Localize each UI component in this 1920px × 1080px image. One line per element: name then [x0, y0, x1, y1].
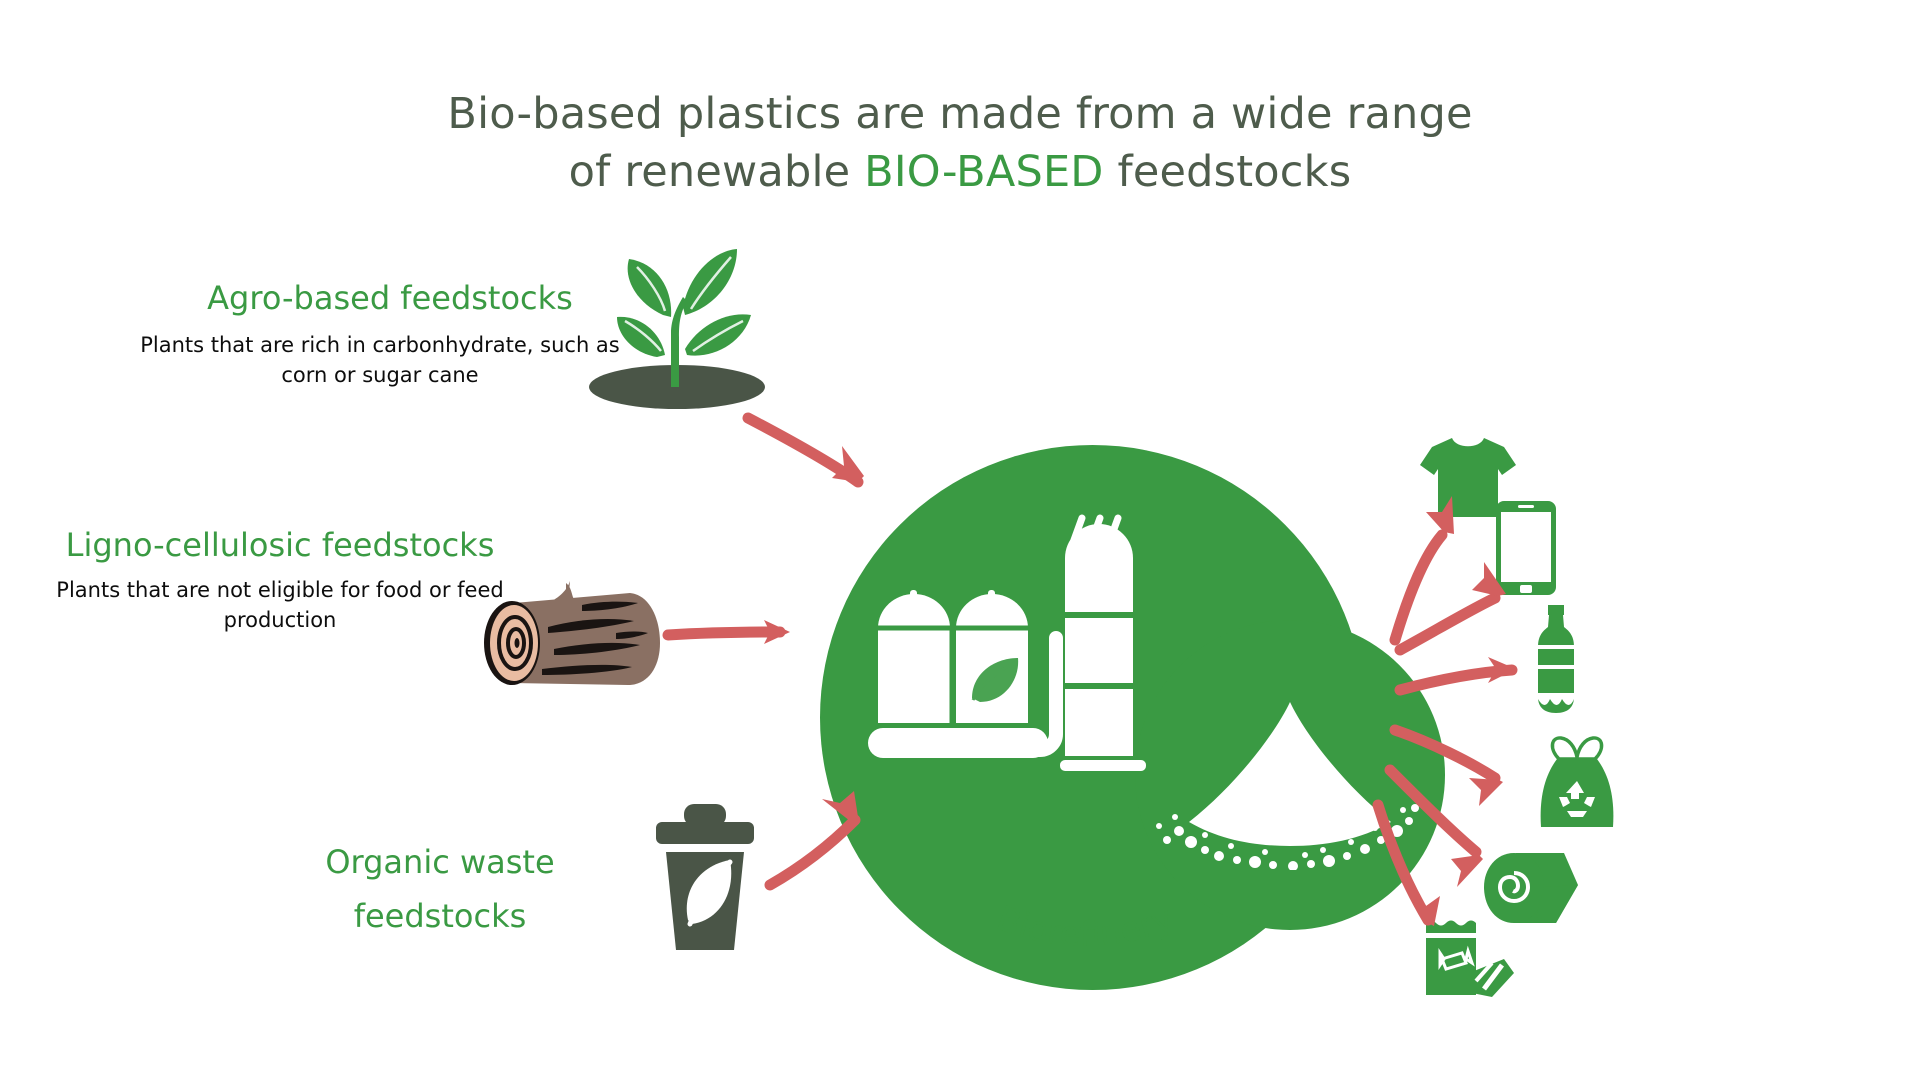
arrowhead-phone: [1472, 562, 1506, 596]
arrow-ligno-to-biorefinery: [668, 632, 780, 635]
arrow-to-roll: [1390, 770, 1476, 852]
arrow-to-candy: [1378, 805, 1428, 920]
arrowhead-tshirt: [1426, 496, 1454, 534]
arrow-organic-to-biorefinery: [770, 820, 855, 885]
arrowhead-roll: [1451, 855, 1483, 887]
arrowhead-bag: [1469, 778, 1503, 806]
flow-arrows: [0, 0, 1920, 1080]
arrow-to-bag: [1395, 730, 1495, 778]
infographic-canvas: Bio-based plastics are made from a wide …: [0, 0, 1920, 1080]
arrow-to-phone: [1400, 598, 1495, 650]
arrowhead-organic: [822, 791, 858, 821]
